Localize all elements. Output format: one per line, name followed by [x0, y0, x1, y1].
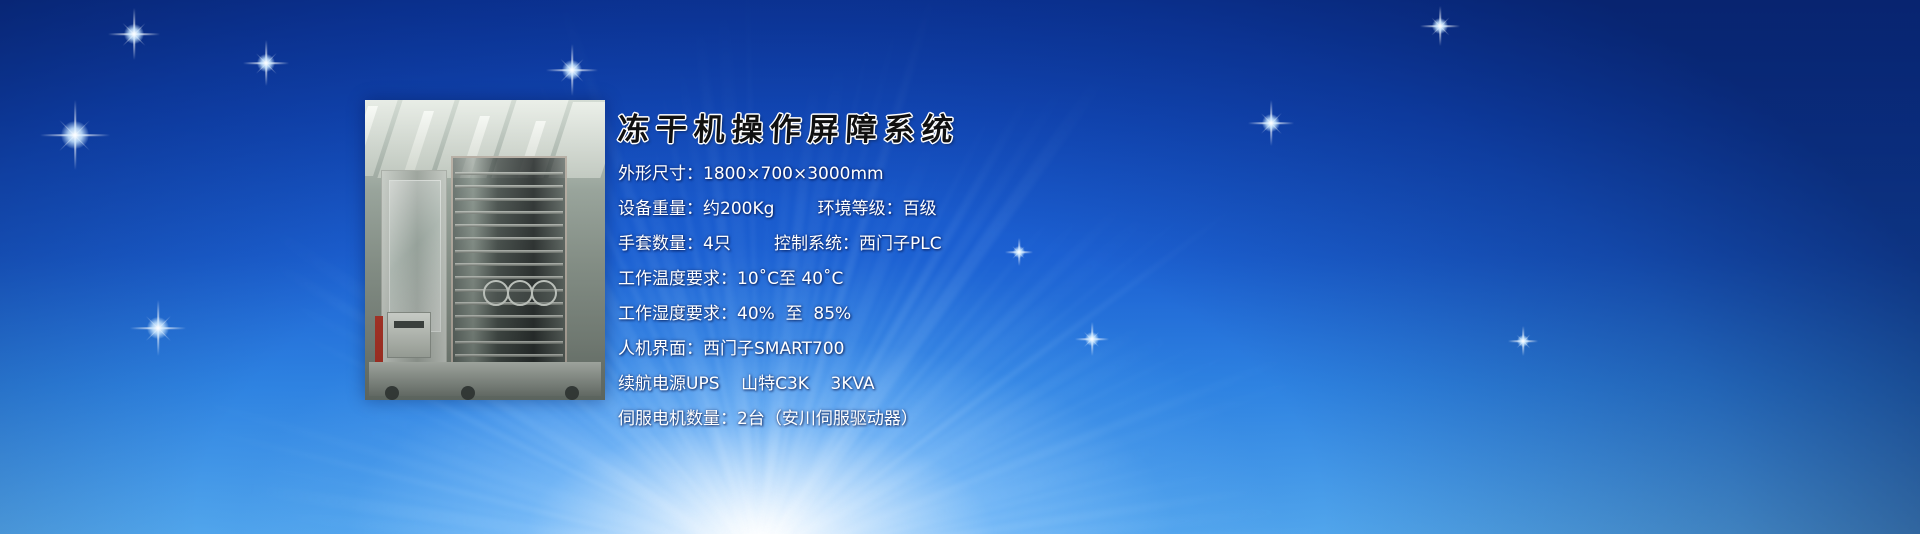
photo-shading [365, 100, 605, 400]
spec-line-working-temperature: 工作温度要求：10˚C至 40˚C [618, 266, 1318, 292]
sparkle-star-icon [1508, 326, 1538, 356]
spec-line-dimensions: 外形尺寸：1800×700×3000mm [618, 161, 1318, 187]
ray [167, 527, 761, 534]
sparkle-star-icon [40, 100, 110, 170]
ray [98, 461, 761, 534]
sparkle-star-icon [130, 300, 186, 356]
sparkle-star-icon [1420, 6, 1460, 46]
spec-line-servo-motors: 伺服电机数量：2台（安川伺服驱动器） [618, 406, 1318, 432]
ray [759, 464, 1412, 534]
spec-line-working-humidity: 工作湿度要求：40% 至 85% [618, 301, 1318, 327]
product-photo [365, 100, 605, 400]
spec-list: 外形尺寸：1800×700×3000mm设备重量：约200Kg 环境等级：百级手… [618, 161, 1318, 432]
ray [759, 443, 1371, 534]
ray [759, 489, 1452, 534]
sparkle-star-icon [108, 8, 160, 60]
spec-line-ups: 续航电源UPS 山特C3K 3KVA [618, 371, 1318, 397]
sparkle-star-icon [243, 40, 289, 86]
spec-line-gloves-and-control: 手套数量：4只 控制系统：西门子PLC [618, 231, 1318, 257]
ray [760, 425, 1329, 534]
promo-banner: 冻干机操作屏障系统 外形尺寸：1800×700×3000mm设备重量：约200K… [0, 0, 1920, 534]
page-title: 冻干机操作屏障系统 [617, 104, 1319, 149]
ray [760, 517, 1493, 534]
ray [132, 495, 761, 534]
spec-line-hmi: 人机界面：西门子SMART700 [618, 336, 1318, 362]
spec-line-weight-and-cleanliness: 设备重量：约200Kg 环境等级：百级 [618, 196, 1318, 222]
banner-text-block: 冻干机操作屏障系统 外形尺寸：1800×700×3000mm设备重量：约200K… [618, 104, 1318, 441]
sparkle-star-icon [546, 44, 598, 96]
ray [68, 428, 761, 534]
